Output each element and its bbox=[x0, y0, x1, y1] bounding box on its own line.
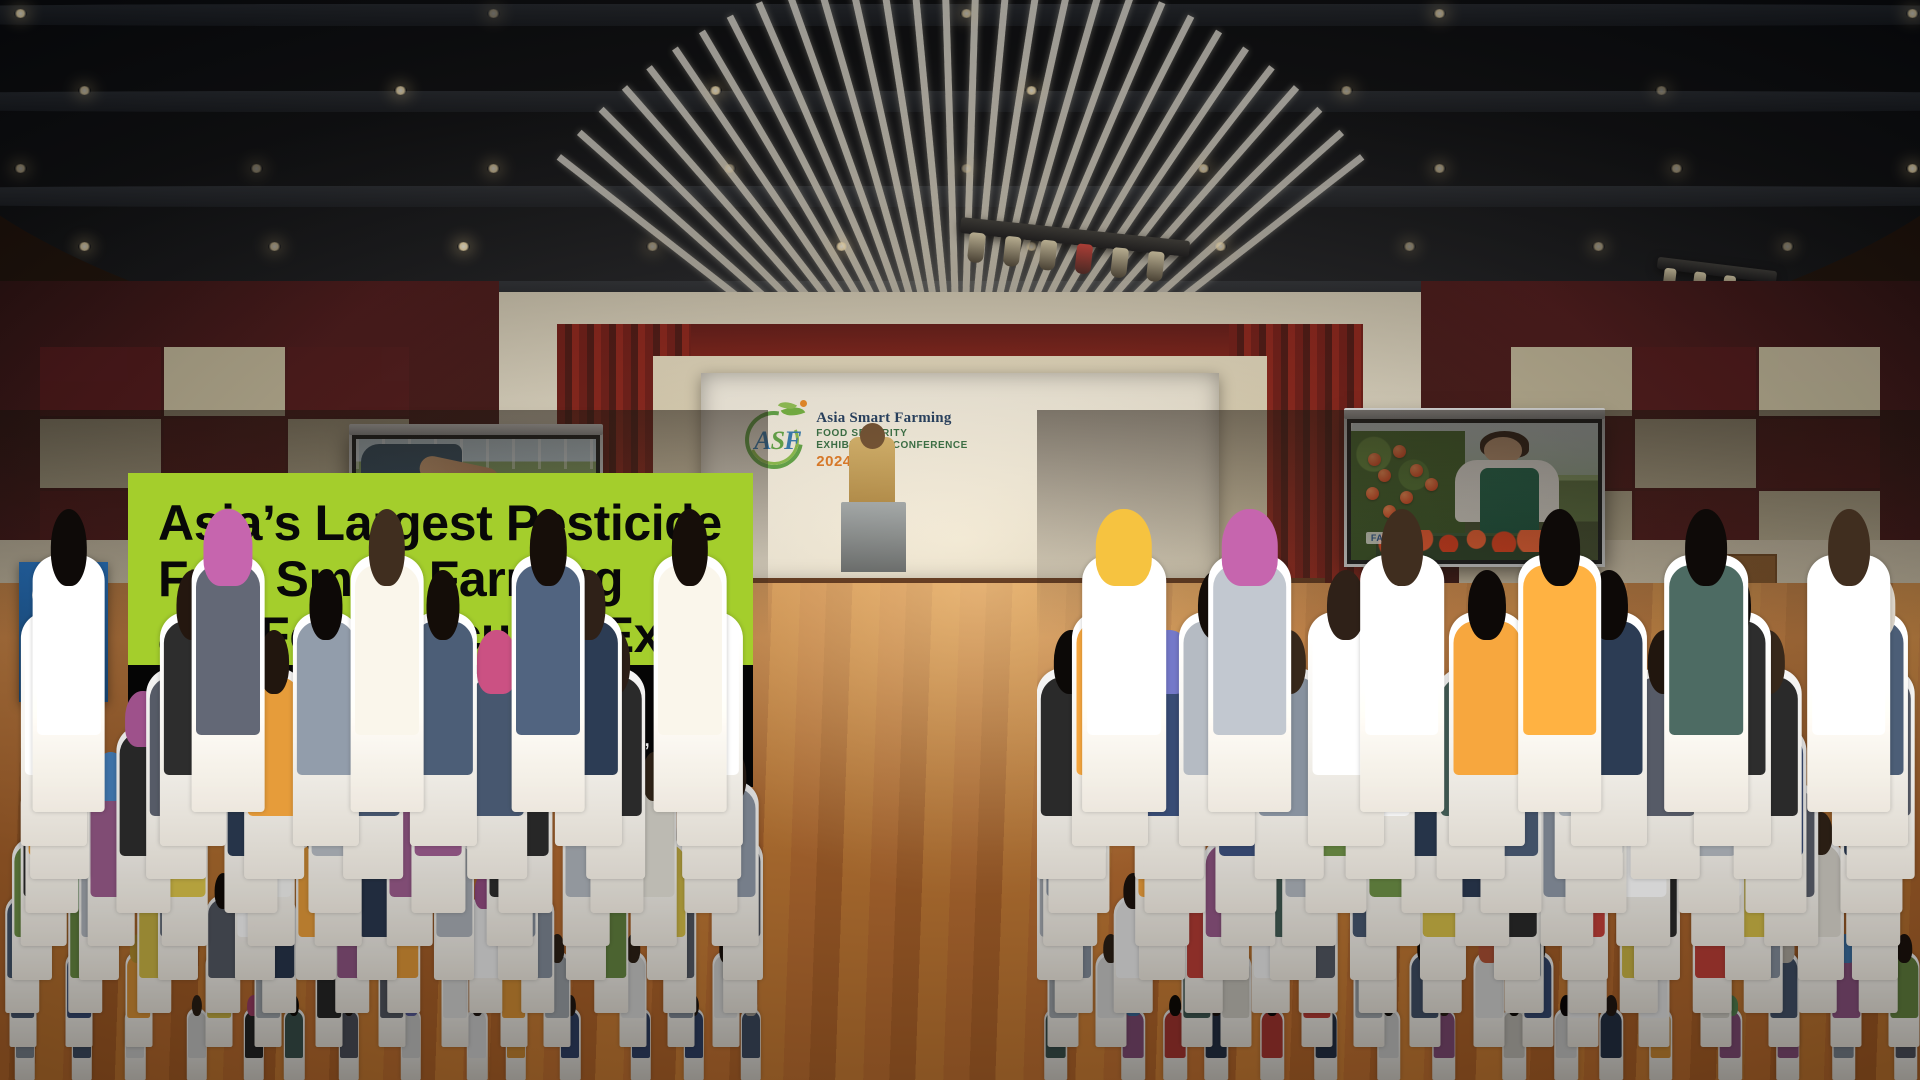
audience-right bbox=[1037, 410, 1920, 1080]
audience-person bbox=[1669, 565, 1743, 735]
audience-person bbox=[1454, 621, 1521, 775]
audience-person bbox=[355, 565, 419, 735]
audience-person bbox=[516, 565, 580, 735]
asf-subtitle-1: FOOD SECURITY bbox=[816, 428, 968, 440]
audience-person-head bbox=[1327, 570, 1365, 640]
audience-person-head bbox=[1606, 995, 1618, 1017]
audience-person-head bbox=[1468, 570, 1506, 640]
audience-person-head bbox=[369, 509, 405, 586]
audience-person bbox=[285, 1011, 303, 1059]
audience-person-head bbox=[672, 509, 708, 586]
audience-person bbox=[742, 1011, 760, 1059]
audience-person bbox=[1601, 1011, 1622, 1059]
audience-person bbox=[1213, 565, 1287, 735]
audience-person-head bbox=[427, 570, 460, 640]
audience-person-head bbox=[1539, 509, 1581, 586]
audience-person bbox=[1523, 565, 1597, 735]
audience-person-head bbox=[204, 509, 253, 586]
audience-person-head bbox=[1222, 509, 1278, 586]
audience-person-head bbox=[1169, 995, 1181, 1017]
audience-person bbox=[1123, 1011, 1144, 1059]
audience-person bbox=[1812, 565, 1886, 735]
audience-person-head bbox=[1096, 509, 1152, 586]
audience-person bbox=[188, 1011, 206, 1059]
audience-person bbox=[658, 565, 722, 735]
asf-title: Asia Smart Farming bbox=[816, 410, 968, 428]
audience-person bbox=[37, 565, 101, 735]
audience-person-head bbox=[192, 995, 202, 1017]
audience-person bbox=[297, 621, 355, 775]
audience-person-head bbox=[309, 570, 342, 640]
audience-person-head bbox=[1685, 509, 1727, 586]
audience-person bbox=[1262, 1011, 1283, 1059]
audience-person-head bbox=[50, 509, 86, 586]
banner-canvas: ASF Asia Smart Farming FOOD SECURITY EXH… bbox=[0, 0, 1920, 1080]
audience-person bbox=[468, 1011, 486, 1059]
audience-person bbox=[1087, 565, 1161, 735]
audience-person-head bbox=[1381, 509, 1423, 586]
audience-person-head bbox=[530, 509, 566, 586]
audience-person bbox=[1365, 565, 1439, 735]
audience-person bbox=[196, 565, 260, 735]
audience-person-head bbox=[1828, 509, 1870, 586]
